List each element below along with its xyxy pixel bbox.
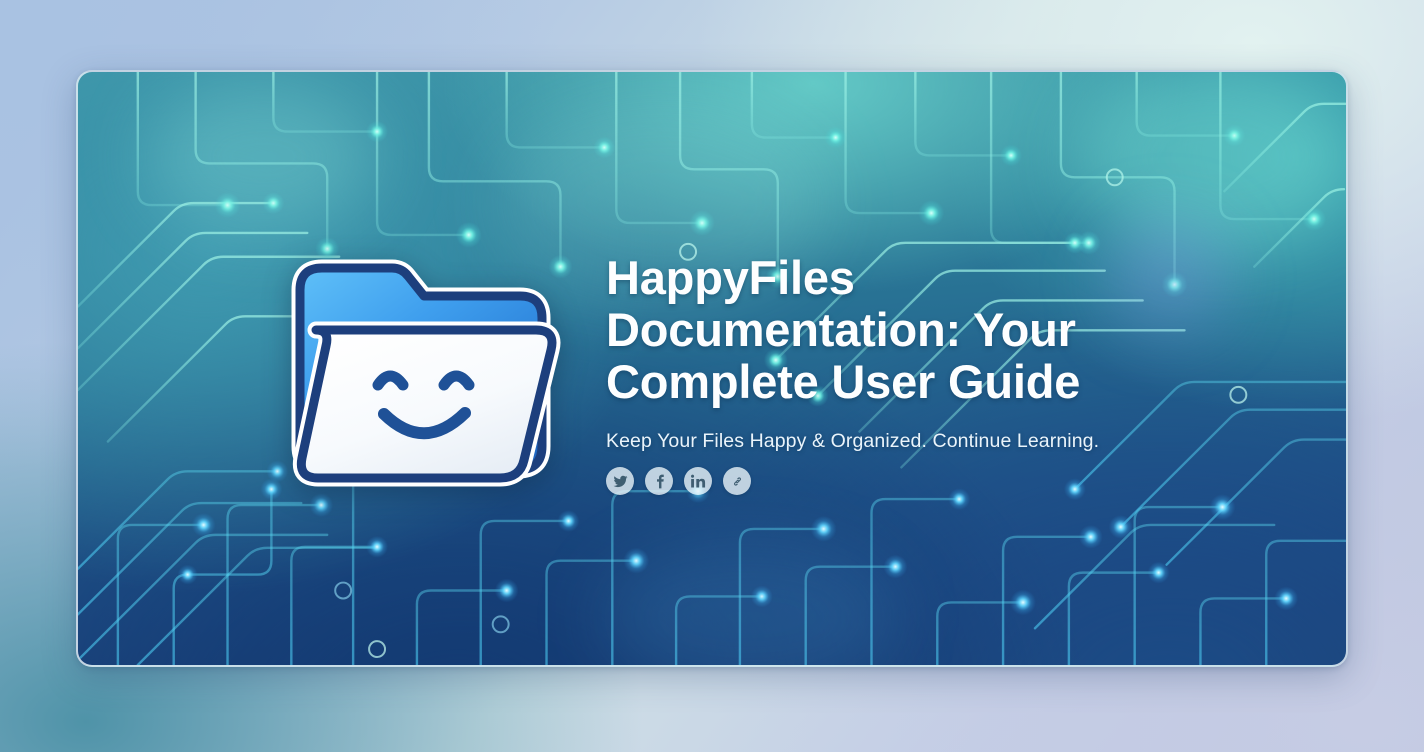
happyfiles-logo xyxy=(274,246,562,508)
twitter-icon[interactable] xyxy=(606,467,634,495)
social-links xyxy=(606,467,1266,495)
facebook-icon[interactable] xyxy=(645,467,673,495)
page-title: HappyFiles Documentation: Your Complete … xyxy=(606,252,1146,408)
link-icon[interactable] xyxy=(723,467,751,495)
hero-text-block: HappyFiles Documentation: Your Complete … xyxy=(606,252,1266,495)
linkedin-icon[interactable] xyxy=(684,467,712,495)
hero-subtitle: Keep Your Files Happy & Organized. Conti… xyxy=(606,428,1266,454)
hero-content: HappyFiles Documentation: Your Complete … xyxy=(78,72,1346,665)
page-background: HappyFiles Documentation: Your Complete … xyxy=(0,0,1424,752)
hero-banner-card: HappyFiles Documentation: Your Complete … xyxy=(76,70,1348,667)
